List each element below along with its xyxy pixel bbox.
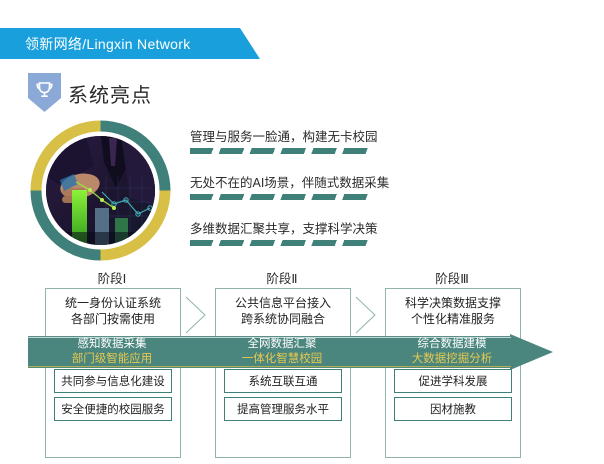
stage-column-3: 科学决策数据支撑 个性化精准服务 目的 促进学科发展 因材施教 [385, 288, 521, 458]
highlight-underline [190, 240, 372, 246]
progress-arrow-band: 感知数据采集 部门级智能应用 全网数据汇聚 一体化智慧校园 综合数据建模 大数据… [28, 334, 553, 370]
highlight-text: 无处不在的AI场景，伴随式数据采集 [190, 172, 389, 191]
stage-column-2: 公共信息平台接入 跨系统协同融合 目的 系统互联互通 提高管理服务水平 [215, 288, 351, 458]
stage-description: 科学决策数据支撑 个性化精准服务 [386, 289, 520, 333]
photo-chart-hand [46, 136, 155, 245]
stage-description-line2: 跨系统协同融合 [241, 311, 325, 327]
stage-description-line1: 统一身份认证系统 [65, 295, 161, 311]
stage-label-3: 阶段Ⅲ [385, 268, 519, 287]
banner-title: 领新网络/Lingxin Network [25, 34, 191, 54]
stage-label-1: 阶段Ⅰ [45, 268, 179, 287]
goal-box: 促进学科发展 [394, 369, 512, 393]
highlight-item: 无处不在的AI场景，伴随式数据采集 [190, 172, 389, 200]
goal-box: 共同参与信息化建设 [54, 369, 172, 393]
goal-box: 提高管理服务水平 [224, 397, 342, 421]
page-title: 系统亮点 [68, 79, 152, 108]
stage-description-line2: 个性化精准服务 [411, 311, 495, 327]
title-banner: 领新网络/Lingxin Network [0, 28, 260, 59]
goal-box: 系统互联互通 [224, 369, 342, 393]
highlight-underline [190, 148, 372, 154]
highlight-illustration [28, 118, 173, 263]
highlight-text: 多维数据汇聚共享，支撑科学决策 [190, 218, 378, 237]
stage-description: 公共信息平台接入 跨系统协同融合 [216, 289, 350, 333]
stage-description-line1: 科学决策数据支撑 [405, 295, 501, 311]
stage-description: 统一身份认证系统 各部门按需使用 [46, 289, 180, 333]
highlight-underline [190, 194, 372, 200]
highlight-item: 管理与服务一脸通，构建无卡校园 [190, 126, 378, 154]
highlight-text: 管理与服务一脸通，构建无卡校园 [190, 126, 378, 145]
stage-description-line2: 各部门按需使用 [71, 311, 155, 327]
stage-label-2: 阶段Ⅱ [215, 268, 349, 287]
highlight-item: 多维数据汇聚共享，支撑科学决策 [190, 218, 378, 246]
chevron-right-icon [184, 296, 208, 334]
stage-description-line1: 公共信息平台接入 [235, 295, 331, 311]
goal-box: 安全便捷的校园服务 [54, 397, 172, 421]
chevron-right-icon [354, 296, 378, 334]
stage-column-1: 统一身份认证系统 各部门按需使用 目的 共同参与信息化建设 安全便捷的校园服务 [45, 288, 181, 458]
shield-trophy-icon [28, 73, 61, 112]
goal-box: 因材施教 [394, 397, 512, 421]
